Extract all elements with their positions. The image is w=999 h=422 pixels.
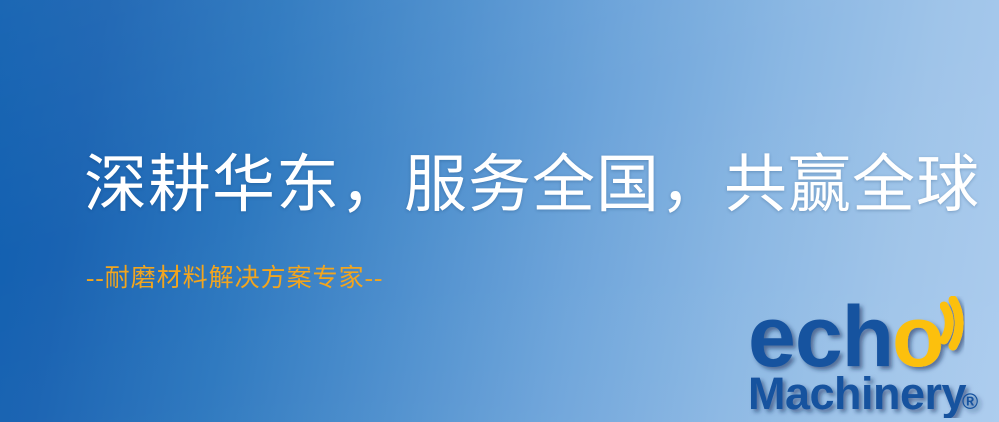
- page-subtitle: --耐磨材料解决方案专家--: [86, 264, 383, 294]
- signal-wave-icon: [944, 300, 959, 346]
- echo-machinery-logo[interactable]: ech o Machinery ®: [748, 296, 996, 418]
- logo-subtitle-text: Machinery: [748, 368, 967, 418]
- hero-banner: 深耕华东，服务全国，共赢全球 --耐磨材料解决方案专家-- ech o: [0, 0, 999, 422]
- page-title: 深耕华东，服务全国，共赢全球: [84, 152, 980, 218]
- registered-trademark-icon: ®: [962, 389, 978, 414]
- signal-arc-inner: [944, 306, 949, 340]
- signal-arc-outer: [953, 300, 959, 346]
- logo-subtitle: Machinery ®: [748, 368, 978, 418]
